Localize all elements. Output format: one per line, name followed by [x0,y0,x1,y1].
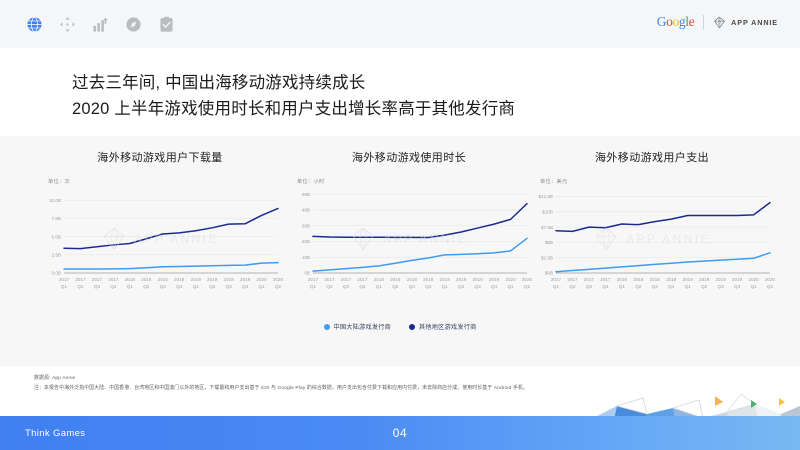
footnote-source: 数据源: App Annie [34,374,774,384]
app-annie-logo: APP ANNIE [713,16,778,29]
svg-text:Q2: Q2 [275,284,282,289]
chart-unit-label: 单位：次 [48,178,284,185]
plot-area: 0B10B20B30B40B50B2017Q12017Q22017Q32017Q… [285,187,533,299]
svg-text:Q2: Q2 [458,284,465,289]
svg-text:2019: 2019 [191,277,202,282]
svg-text:2019: 2019 [489,277,500,282]
svg-text:Q3: Q3 [226,284,233,289]
svg-text:Q4: Q4 [668,284,675,289]
svg-text:Q4: Q4 [359,284,366,289]
svg-text:2017: 2017 [567,277,578,282]
legend-label: 中国大陆游戏发行商 [334,322,392,331]
svg-text:Q3: Q3 [718,284,725,289]
svg-text:2017: 2017 [308,277,319,282]
chart-title: 海外移动游戏使用时长 [285,149,533,165]
plot-area: $0B$2.5B$5B$7.5B$10B$12.5B2017Q12017Q220… [528,187,776,299]
line-chart-svg: $0B$2.5B$5B$7.5B$10B$12.5B2017Q12017Q220… [528,187,776,299]
footnote-note: 注：本报告中海外泛指中国大陆、中国香港、台湾地区和中国澳门以外的地区，下载量和用… [34,384,774,394]
svg-text:Q3: Q3 [652,284,659,289]
svg-text:$2.5B: $2.5B [541,255,553,260]
svg-text:2017: 2017 [75,277,86,282]
title-line-2: 2020 上半年游戏使用时长和用户支出增长率高于其他发行商 [72,96,712,122]
legend-item-other[interactable]: 其他地区游戏发行商 [409,322,477,331]
svg-text:2019: 2019 [223,277,234,282]
svg-text:Q2: Q2 [635,284,642,289]
svg-text:2018: 2018 [390,277,401,282]
top-toolbar: Google APP ANNIE [0,0,800,48]
svg-text:2017: 2017 [341,277,352,282]
svg-text:Q2: Q2 [701,284,708,289]
svg-text:2019: 2019 [732,277,743,282]
svg-text:2017: 2017 [108,277,119,282]
charts-row: 海外移动游戏用户下载量 单位：次 0.0B2.5B5.0B7.5B10.0B20… [0,136,800,316]
svg-text:0.0B: 0.0B [52,271,61,276]
svg-text:$5B: $5B [545,240,553,245]
svg-text:Q3: Q3 [94,284,101,289]
svg-text:2020: 2020 [505,277,516,282]
svg-text:2017: 2017 [600,277,611,282]
svg-text:10.0B: 10.0B [49,198,61,203]
svg-text:Q2: Q2 [209,284,216,289]
svg-text:Q2: Q2 [143,284,150,289]
bar-chart-icon[interactable] [92,16,109,33]
plot-area: 0.0B2.5B5.0B7.5B10.0B2017Q12017Q22017Q32… [36,187,284,299]
compass-icon[interactable] [125,16,142,33]
brand-logos: Google APP ANNIE [657,14,778,30]
chart-consumer-spend: 海外移动游戏用户支出 单位：美元 $0B$2.5B$5B$7.5B$10B$12… [528,136,776,311]
svg-text:7.5B: 7.5B [52,216,61,221]
svg-text:Q2: Q2 [569,284,576,289]
app-annie-diamond-icon [713,16,726,29]
svg-text:50B: 50B [302,192,310,197]
svg-text:Q1: Q1 [750,284,757,289]
svg-text:20B: 20B [302,239,310,244]
slide-title: 过去三年间, 中国出海移动游戏持续成长 2020 上半年游戏使用时长和用户支出增… [72,70,712,122]
svg-text:2019: 2019 [207,277,218,282]
svg-text:30B: 30B [302,223,310,228]
svg-text:Q4: Q4 [176,284,183,289]
svg-text:2017: 2017 [92,277,103,282]
svg-text:2018: 2018 [407,277,418,282]
svg-text:2018: 2018 [174,277,185,282]
svg-text:5.0B: 5.0B [52,234,61,239]
svg-text:Q4: Q4 [602,284,609,289]
svg-text:2019: 2019 [683,277,694,282]
legend-dot-icon [324,324,330,330]
legend-label: 其他地区游戏发行商 [419,322,477,331]
legend-item-china[interactable]: 中国大陆游戏发行商 [324,322,392,331]
svg-text:2019: 2019 [240,277,251,282]
svg-text:Q1: Q1 [507,284,514,289]
toolbar-icon-group [26,16,175,33]
svg-text:2018: 2018 [666,277,677,282]
svg-text:Q1: Q1 [619,284,626,289]
svg-text:2019: 2019 [456,277,467,282]
svg-text:0B: 0B [304,271,310,276]
svg-text:2018: 2018 [141,277,152,282]
bottom-bar: Think Games 04 [0,416,800,450]
svg-text:Q1: Q1 [553,284,560,289]
svg-text:Q1: Q1 [127,284,134,289]
svg-text:2020: 2020 [748,277,759,282]
svg-text:2017: 2017 [584,277,595,282]
svg-text:2.5B: 2.5B [52,252,61,257]
svg-text:2017: 2017 [59,277,70,282]
line-chart-svg: 0.0B2.5B5.0B7.5B10.0B2017Q12017Q22017Q32… [36,187,284,299]
svg-text:2018: 2018 [374,277,385,282]
svg-text:2018: 2018 [617,277,628,282]
globe-icon[interactable] [26,16,43,33]
chart-usage-time: 海外移动游戏使用时长 单位：小时 0B10B20B30B40B50B2017Q1… [285,136,533,311]
svg-text:Q2: Q2 [767,284,774,289]
move-arrows-icon[interactable] [59,16,76,33]
svg-text:2019: 2019 [440,277,451,282]
logo-divider [703,15,704,30]
svg-text:2019: 2019 [699,277,710,282]
svg-text:Q2: Q2 [77,284,84,289]
legend-dot-icon [409,324,415,330]
svg-text:Q2: Q2 [326,284,333,289]
svg-text:2018: 2018 [125,277,136,282]
svg-text:Q3: Q3 [409,284,416,289]
footnotes: 数据源: App Annie 注：本报告中海外泛指中国大陆、中国香港、台湾地区和… [34,374,774,393]
chart-title: 海外移动游戏用户支出 [528,149,776,165]
svg-text:Q1: Q1 [376,284,383,289]
svg-text:Q2: Q2 [392,284,399,289]
slide: Google APP ANNIE 过去三年间, 中国出海移动游戏持续成长 202… [0,0,800,450]
svg-text:Q1: Q1 [258,284,265,289]
svg-text:2018: 2018 [650,277,661,282]
svg-text:Q1: Q1 [193,284,200,289]
svg-text:2017: 2017 [357,277,368,282]
chart-downloads: 海外移动游戏用户下载量 单位：次 0.0B2.5B5.0B7.5B10.0B20… [36,136,284,311]
svg-text:Q4: Q4 [734,284,741,289]
svg-text:$10B: $10B [542,210,553,215]
page-number: 04 [0,426,800,440]
svg-text:2019: 2019 [715,277,726,282]
line-chart-svg: 0B10B20B30B40B50B2017Q12017Q22017Q32017Q… [285,187,533,299]
svg-text:$12.5B: $12.5B [538,194,553,199]
svg-text:40B: 40B [302,208,310,213]
svg-text:2020: 2020 [256,277,267,282]
svg-text:$0B: $0B [545,271,553,276]
svg-text:Q4: Q4 [110,284,117,289]
chart-unit-label: 单位：小时 [297,178,533,185]
app-annie-wordmark: APP ANNIE [731,18,778,27]
svg-text:Q1: Q1 [442,284,449,289]
svg-text:2019: 2019 [472,277,483,282]
svg-text:2018: 2018 [158,277,169,282]
svg-text:Q4: Q4 [425,284,432,289]
svg-text:Q3: Q3 [343,284,350,289]
svg-text:2017: 2017 [551,277,562,282]
chart-unit-label: 单位：美元 [540,178,776,185]
chart-title: 海外移动游戏用户下载量 [36,149,284,165]
svg-text:Q1: Q1 [685,284,692,289]
svg-text:2018: 2018 [423,277,434,282]
svg-text:Q1: Q1 [61,284,68,289]
svg-text:$7.5B: $7.5B [541,225,553,230]
svg-text:2020: 2020 [765,277,776,282]
svg-text:Q3: Q3 [475,284,482,289]
svg-text:2020: 2020 [273,277,284,282]
svg-text:10B: 10B [302,255,310,260]
svg-text:Q4: Q4 [242,284,249,289]
clipboard-check-icon[interactable] [158,16,175,33]
svg-text:Q1: Q1 [310,284,317,289]
svg-text:Q3: Q3 [586,284,593,289]
svg-text:Q3: Q3 [160,284,167,289]
svg-text:2017: 2017 [324,277,335,282]
charts-panel: 海外移动游戏用户下载量 单位：次 0.0B2.5B5.0B7.5B10.0B20… [0,136,800,366]
svg-text:Q4: Q4 [491,284,498,289]
chart-legend: 中国大陆游戏发行商 其他地区游戏发行商 [0,322,800,331]
svg-text:2018: 2018 [633,277,644,282]
google-logo: Google [657,14,694,30]
title-line-1: 过去三年间, 中国出海移动游戏持续成长 [72,70,712,96]
